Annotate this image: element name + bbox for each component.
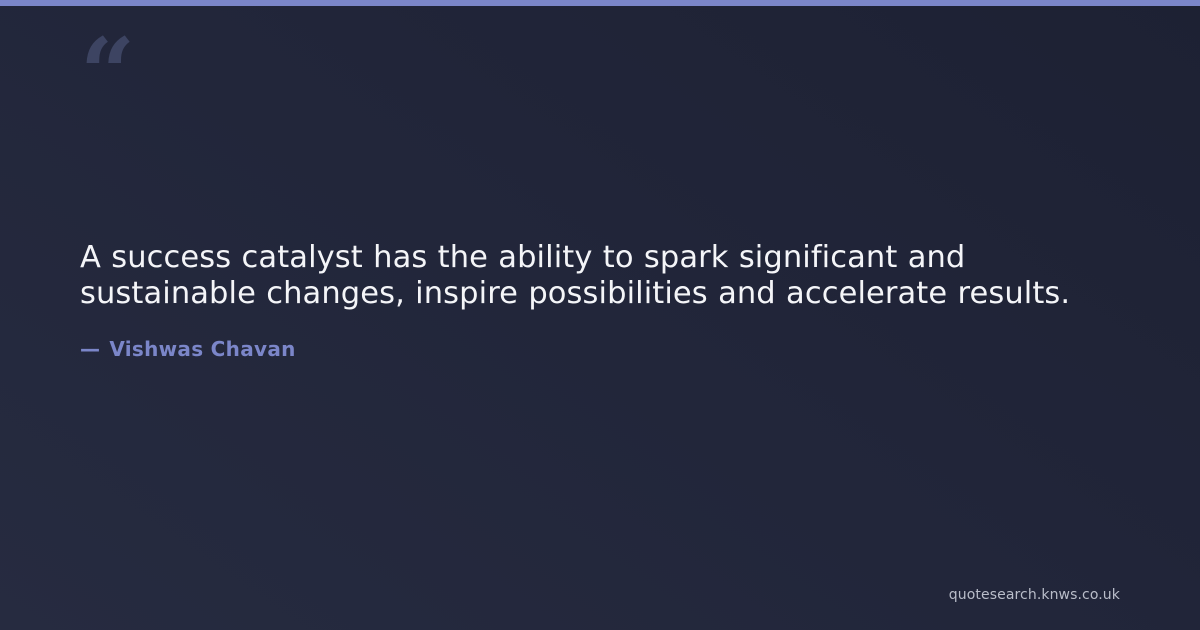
opening-quote-mark-icon: “ (80, 26, 133, 122)
quote-attribution: — Vishwas Chavan (80, 312, 1140, 362)
quote-card: “ A success catalyst has the ability to … (0, 0, 1200, 630)
quote-text: A success catalyst has the ability to sp… (80, 240, 1140, 312)
source-url-label: quotesearch.knws.co.uk (949, 586, 1120, 604)
attribution-dash: — (80, 336, 100, 362)
quote-content: A success catalyst has the ability to sp… (80, 240, 1140, 362)
top-accent-bar (0, 0, 1200, 6)
attribution-author-name: Vishwas Chavan (109, 336, 295, 362)
